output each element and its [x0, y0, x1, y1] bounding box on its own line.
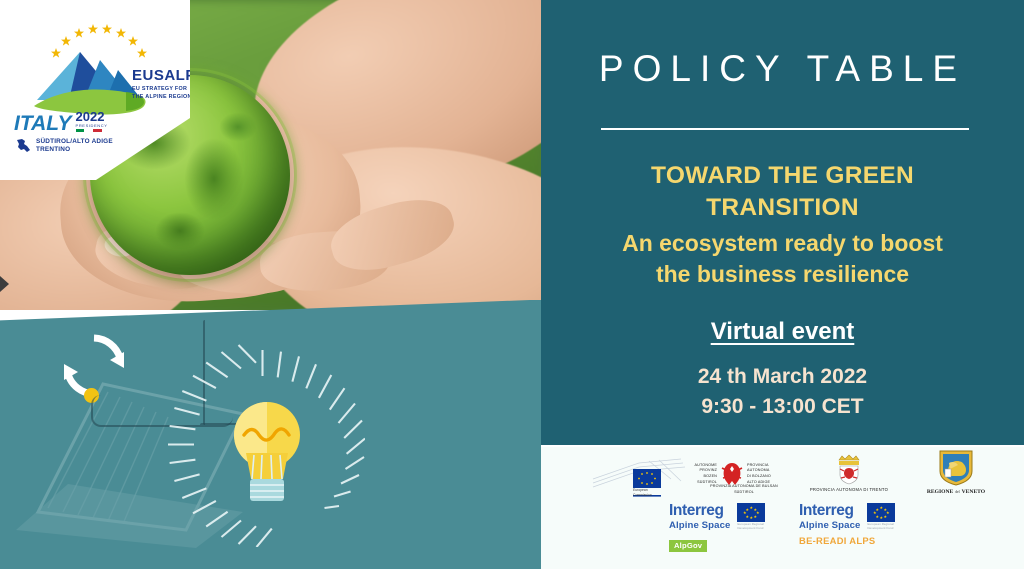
presidency-region-line1: SÜDTIROL/ALTO ADIGE: [36, 138, 113, 146]
veneto-logo: REGIONE del VENETO: [901, 449, 1011, 497]
presidency-label: PRESIDENCY: [76, 123, 108, 128]
event-datetime: 24 th March 2022 9:30 - 13:00 CET: [541, 362, 1024, 422]
illustration-content: [0, 300, 541, 569]
italy-map-icon: [14, 138, 32, 154]
trento-crowned-eagle-icon: [832, 453, 866, 485]
interreg-programme: Alpine Space: [799, 521, 860, 532]
interreg-project-beready: BE-READI ALPS: [799, 535, 875, 546]
interreg-beready-logo: Interreg Alpine Space ★★ ★★ ★★ ★★ Europe…: [799, 503, 959, 555]
presidency-country: ITALY: [14, 113, 72, 134]
interreg-project-alpgov: AlpGov: [669, 540, 707, 552]
interreg-brand: Interreg: [669, 503, 730, 519]
eu-flag-icon: ★★ ★★ ★★ ★★: [867, 503, 895, 522]
lightbulb-icon: [228, 395, 306, 507]
eusalp-wordmark: EUSALP EU STRATEGY FOR THE ALPINE REGION: [132, 68, 196, 102]
eusalp-name: EUSALP: [132, 68, 196, 83]
interreg-cofund-note: European Regional Development Fund: [867, 522, 895, 530]
interreg-brand: Interreg: [799, 503, 860, 519]
bolzano-ladin-label: PROVINZIA AUTONOMA DE BULSAN SÜDTIROL: [683, 484, 805, 495]
policy-table-poster: EUSALP EU STRATEGY FOR THE ALPINE REGION…: [0, 0, 1024, 569]
interreg-programme: Alpine Space: [669, 521, 730, 532]
illustration-panel: [0, 300, 541, 569]
italy-presidency-block: ITALY 2022 PRESIDENCY SÜDTIROL/ALTO ADIG…: [14, 110, 113, 154]
eu-flag-icon: ★★ ★★ ★★ ★★: [737, 503, 765, 522]
presidency-year: 2022: [76, 110, 108, 123]
event-subheadline-line2: the business resilience: [541, 259, 1024, 290]
veneto-label-1: REGIONE: [927, 489, 953, 495]
event-headline-line1: TOWARD THE GREEN: [541, 160, 1024, 192]
event-subheadline-line1: An ecosystem ready to boost: [541, 228, 1024, 259]
event-time: 9:30 - 13:00 CET: [541, 392, 1024, 422]
bolzano-lad-2: SÜDTIROL: [683, 490, 805, 496]
event-headline-line2: TRANSITION: [541, 192, 1024, 224]
veneto-winged-lion-icon: [936, 449, 976, 487]
bolzano-italian-label: PROVINCIA AUTONOMA DI BOLZANO ALTO ADIGE: [747, 463, 785, 485]
veneto-label-2: del: [955, 490, 959, 494]
trento-logo: PROVINCIA AUTONOMA DI TRENTO: [789, 453, 909, 497]
presidency-regions: SÜDTIROL/ALTO ADIGE TRENTINO: [36, 138, 113, 154]
interreg-cofund-note: European Regional Development Fund: [737, 522, 765, 530]
left-edge-arrow-icon[interactable]: [0, 276, 9, 292]
eusalp-tagline-line1: EU STRATEGY FOR: [132, 86, 196, 94]
bolzano-sudtirol-logo: AUTONOME PROVINZ BOZEN SÜDTIROL PROVINCI…: [681, 451, 806, 497]
eu-commission-label-line2: Commission: [633, 493, 652, 498]
bolzano-german-label: AUTONOME PROVINZ BOZEN SÜDTIROL: [681, 463, 717, 485]
page-title: POLICY TABLE: [541, 48, 1024, 90]
eusalp-tagline-line2: THE ALPINE REGION: [132, 94, 196, 102]
event-format-label: Virtual event: [541, 318, 1024, 346]
event-date: 24 th March 2022: [541, 362, 1024, 392]
event-info-panel: POLICY TABLE TOWARD THE GREEN TRANSITION…: [541, 0, 1024, 445]
veneto-label-3: VENETO: [962, 489, 986, 495]
footer-logo-strip: European Commission AUTONOME PROVINZ BOZ…: [541, 447, 1024, 569]
event-headline: TOWARD THE GREEN TRANSITION: [541, 160, 1024, 224]
trento-label: PROVINCIA AUTONOMA DI TRENTO: [810, 487, 888, 493]
event-subheadline: An ecosystem ready to boost the business…: [541, 228, 1024, 290]
eusalp-tagline: EU STRATEGY FOR THE ALPINE REGION: [132, 86, 196, 102]
title-divider: [601, 128, 969, 130]
presidency-region-line2: TRENTINO: [36, 146, 113, 154]
italian-flag-bar: [76, 129, 102, 132]
veneto-label: REGIONE del VENETO: [927, 489, 985, 495]
